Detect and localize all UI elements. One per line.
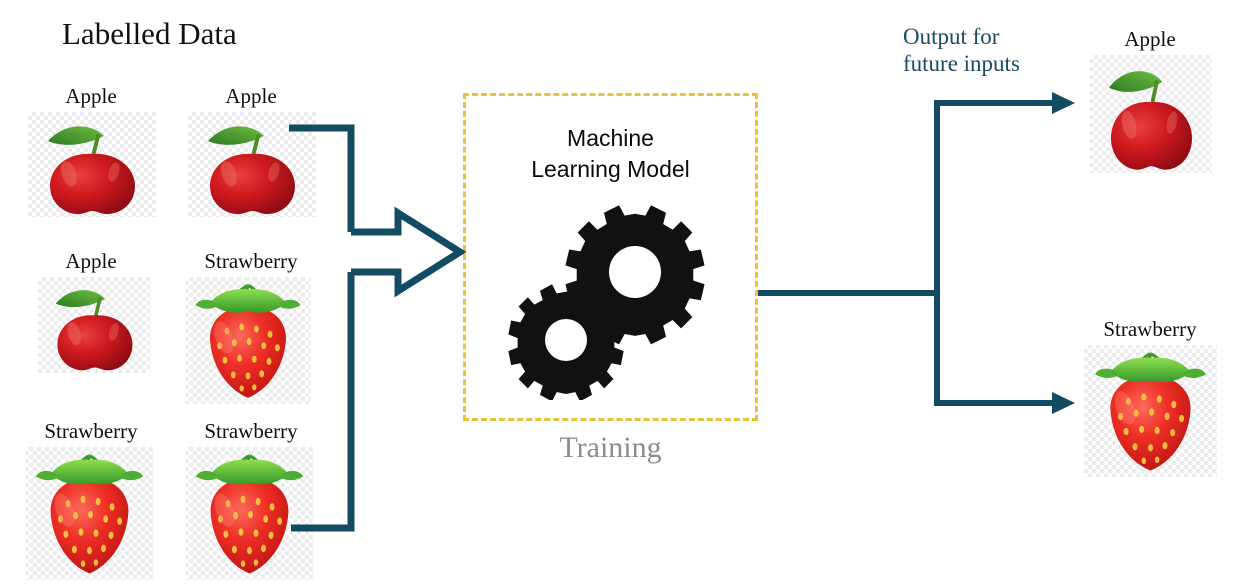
apple-icon <box>1090 55 1212 173</box>
apple-icon <box>38 277 151 373</box>
prediction-strawberry: Strawberry <box>1075 318 1225 340</box>
training-sample-apple-1: Apple <box>16 85 166 107</box>
training-sample-apple-3: Apple <box>16 250 166 272</box>
sample-label: Strawberry <box>176 250 326 272</box>
labelled-data-title: Labelled Data <box>62 18 237 51</box>
strawberry-icon <box>1084 345 1217 477</box>
strawberry-icon <box>25 447 154 580</box>
output-arrows <box>758 103 1055 403</box>
sample-label: Apple <box>176 85 326 107</box>
machine-learning-model-box: Machine Learning Model <box>463 93 758 421</box>
output-note-label: Output for future inputs <box>903 23 1020 77</box>
training-sample-strawberry-2: Strawberry <box>16 420 166 442</box>
model-title: Machine Learning Model <box>466 123 755 185</box>
apple-icon <box>28 112 156 217</box>
prediction-label: Strawberry <box>1075 318 1225 340</box>
strawberry-icon <box>185 447 314 580</box>
sample-label: Apple <box>16 250 166 272</box>
sample-label: Strawberry <box>16 420 166 442</box>
training-caption: Training <box>463 432 758 464</box>
prediction-apple: Apple <box>1075 28 1225 50</box>
training-sample-apple-2: Apple <box>176 85 326 107</box>
training-sample-strawberry-1: Strawberry <box>176 250 326 272</box>
diagram-canvas: Labelled Data Apple <box>0 0 1255 587</box>
output-arrowheads <box>1052 92 1075 414</box>
prediction-label: Apple <box>1075 28 1225 50</box>
sample-label: Apple <box>16 85 166 107</box>
training-sample-strawberry-3: Strawberry <box>176 420 326 442</box>
apple-icon <box>188 112 316 217</box>
sample-label: Strawberry <box>176 420 326 442</box>
strawberry-icon <box>185 277 311 404</box>
gears-icon <box>502 200 722 400</box>
